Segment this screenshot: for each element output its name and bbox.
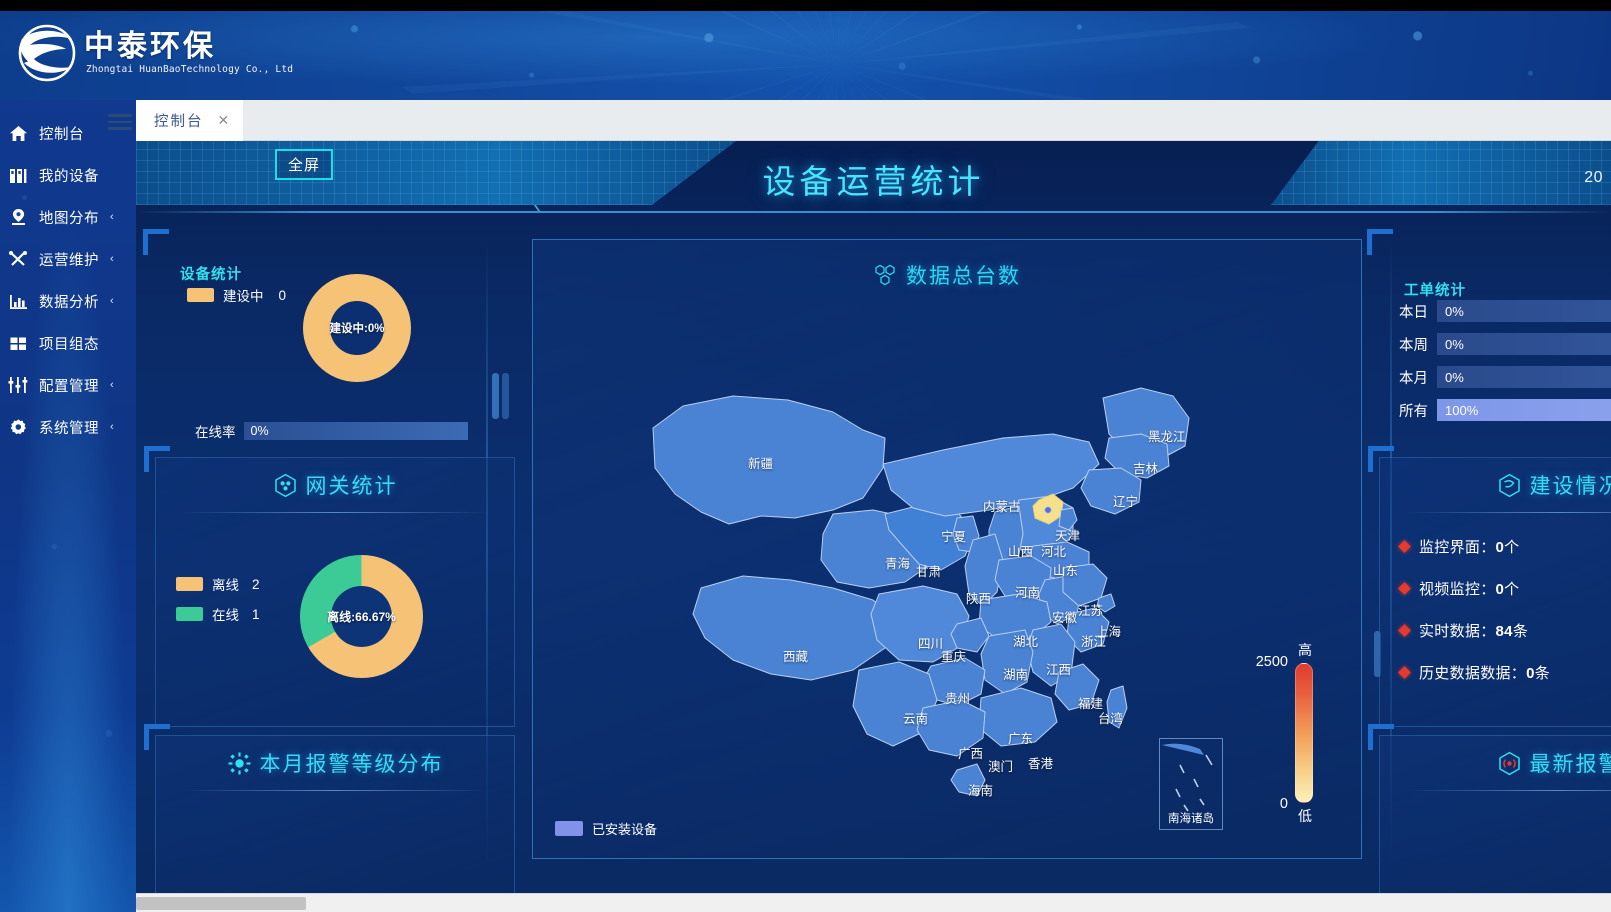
item-text: 监控界面：0个 (1419, 536, 1519, 557)
legend-label: 建设中 (223, 285, 264, 305)
build-info-header: 建设情况 (1380, 458, 1611, 512)
panel-corner (1367, 229, 1393, 255)
row-bar: 0% (1437, 300, 1611, 322)
province-label: 澳门 (988, 756, 1013, 775)
map-panel-title: 数据总台数 (906, 260, 1021, 290)
province-label: 湖南 (1003, 664, 1028, 683)
header-divider (136, 211, 1611, 213)
province-label: 贵州 (945, 688, 970, 707)
nanhai-inset: 南海诸岛 (1159, 738, 1223, 830)
sidebar-item-map-distribution[interactable]: 地图分布 ‹ (0, 196, 136, 238)
hexagon-chart-icon (1497, 473, 1522, 498)
alarm-level-header: 本月报警等级分布 (156, 736, 514, 790)
province-label: 陕西 (966, 588, 991, 607)
province-label: 浙江 (1081, 631, 1106, 650)
row-label: 本月 (1399, 367, 1428, 388)
province-label: 山西 (1008, 541, 1033, 560)
province-label: 重庆 (941, 646, 966, 665)
item-label: 历史数据数据： (1419, 665, 1526, 682)
online-rate-row: 在线率 0% (195, 421, 468, 441)
sidebar-item-label: 地图分布 (39, 207, 99, 228)
gateway-panel-header: 网关统计 (156, 458, 514, 512)
brand-text: 中泰环保 Zhongtai HuanBaoTechnology Co., Ltd (84, 31, 293, 76)
alarm-signal-icon (1497, 751, 1522, 776)
legend-label: 离线 (212, 574, 239, 594)
tab-label: 控制台 (154, 110, 204, 131)
build-info-list: 监控界面：0个 视频监控：0个 实时数据：84条 历史数据数据：0条 (1400, 536, 1550, 704)
sidebar-item-label: 项目组态 (39, 333, 99, 354)
province-label: 宁夏 (941, 526, 966, 545)
build-info-item: 视频监控：0个 (1400, 578, 1550, 599)
gateway-statistics-panel: 网关统计 离线 2 在线 1 离线:66.67% (155, 457, 515, 727)
chart-icon (6, 290, 30, 312)
grid-icon (6, 332, 30, 354)
item-text: 视频监控：0个 (1419, 578, 1519, 599)
row-label: 所有 (1399, 400, 1428, 421)
province-label: 山东 (1053, 560, 1078, 579)
work-order-title: 工单统计 (1404, 279, 1466, 300)
chevron-left-icon[interactable]: ‹ (110, 421, 114, 433)
sidebar-item-system-management[interactable]: 系统管理 ‹ (0, 406, 136, 448)
map-panel-header: 数据总台数 (533, 260, 1361, 290)
gateway-legend: 离线 2 在线 1 (176, 574, 260, 634)
scale-min-value: 0 (1280, 796, 1288, 812)
tools-icon (6, 248, 30, 270)
hamburger-icon[interactable] (108, 110, 132, 132)
china-map-svg[interactable] (533, 288, 1363, 860)
sidebar-item-label: 数据分析 (39, 291, 99, 312)
gateway-panel-title: 网关统计 (306, 470, 398, 500)
panel-corner (143, 229, 169, 255)
gateway-donut-chart: 离线:66.67% (300, 555, 423, 678)
scrollbar-thumb[interactable] (136, 897, 306, 910)
legend-value: 2 (252, 577, 260, 592)
latest-alarm-title: 最新报警 (1530, 748, 1611, 778)
sidebar-item-operations-maintenance[interactable]: 运营维护 ‹ (0, 238, 136, 280)
work-order-row-all: 所有 100% (1399, 399, 1611, 421)
item-value: 0 (1496, 539, 1505, 556)
row-label: 本日 (1399, 301, 1428, 322)
item-label: 视频监控： (1419, 581, 1496, 598)
map-value-scale: 高 低 2500 0 (1295, 663, 1313, 803)
work-order-row-week: 本周 0% (1399, 333, 1611, 355)
build-info-item: 监控界面：0个 (1400, 536, 1550, 557)
item-unit: 条 (1535, 665, 1550, 682)
online-rate-bar: 0% (244, 422, 468, 440)
row-value: 100% (1445, 403, 1478, 418)
item-label: 实时数据： (1419, 623, 1496, 640)
legend-label: 在线 (212, 604, 239, 624)
dashboard-page: 中泰环保 Zhongtai HuanBaoTechnology Co., Ltd… (0, 0, 1611, 912)
province-label: 辽宁 (1113, 491, 1138, 510)
tab-bar: 控制台 ✕ (136, 100, 1611, 141)
panel-divider (1405, 790, 1611, 791)
alarm-level-panel: 本月报警等级分布 (155, 735, 515, 893)
province-label: 青海 (885, 553, 910, 572)
province-label: 湖北 (1013, 631, 1038, 650)
home-icon (6, 122, 30, 144)
province-label: 安徽 (1052, 607, 1077, 626)
province-label: 广西 (958, 743, 983, 762)
dashboard-header: 设备运营统计 20 (136, 141, 1611, 213)
sidebar-item-configuration-management[interactable]: 配置管理 ‹ (0, 364, 136, 406)
item-unit: 个 (1504, 539, 1519, 556)
row-value: 0% (1445, 370, 1464, 385)
sidebar-item-my-devices[interactable]: 我的设备 (0, 154, 136, 196)
panel-divider (1405, 512, 1611, 513)
row-bar: 100% (1437, 399, 1611, 421)
sidebar-item-label: 控制台 (39, 123, 84, 144)
province-label: 香港 (1028, 753, 1053, 772)
work-order-row-month: 本月 0% (1399, 366, 1611, 388)
alarm-level-title: 本月报警等级分布 (260, 748, 444, 778)
item-text: 历史数据数据：0条 (1419, 662, 1550, 683)
legend-row-online: 在线 1 (176, 604, 260, 624)
sidebar-menu: 控制台 我的设备 (0, 100, 136, 448)
sidebar-item-data-analysis[interactable]: 数据分析 ‹ (0, 280, 136, 322)
hexagon-nodes-icon (273, 473, 298, 498)
online-rate-label: 在线率 (195, 421, 236, 441)
province-label: 河北 (1041, 541, 1066, 560)
build-info-title: 建设情况 (1530, 470, 1611, 500)
item-value: 84 (1496, 623, 1513, 640)
chevron-left-icon[interactable]: ‹ (110, 211, 114, 223)
device-icon (6, 164, 30, 186)
diamond-bullet-icon (1398, 540, 1411, 553)
item-unit: 个 (1504, 581, 1519, 598)
scale-low-label: 低 (1292, 806, 1318, 826)
legend-value: 0 (279, 288, 287, 303)
diamond-bullet-icon (1398, 582, 1411, 595)
chevron-left-icon[interactable]: ‹ (110, 295, 114, 307)
province-label: 吉林 (1133, 458, 1158, 477)
latest-alarm-panel: 最新报警 (1379, 735, 1611, 893)
legend-value: 1 (252, 607, 260, 622)
donut-center-label: 离线:66.67% (327, 608, 396, 625)
build-info-panel: 建设情况 监控界面：0个 视频监控：0个 实时数据：84条 历史 (1379, 457, 1611, 727)
diamond-bullet-icon (1398, 666, 1411, 679)
legend-swatch-online (176, 607, 203, 621)
province-label: 江西 (1046, 659, 1071, 678)
china-map[interactable]: 新疆黑龙江吉林辽宁内蒙古天津宁夏山西河北山东青海甘肃河南陕西安徽江苏上海浙江四川… (533, 288, 1363, 860)
dashboard-canvas: 设备运营统计 20 全屏 设备统计 建设中 0 建设中:0% 在线 (136, 141, 1611, 893)
fullscreen-button[interactable]: 全屏 (275, 149, 333, 180)
panel-divider (181, 512, 489, 513)
province-label: 西藏 (783, 646, 808, 665)
legend-row-offline: 离线 2 (176, 574, 260, 594)
province-label: 河南 (1015, 582, 1040, 601)
close-icon[interactable]: ✕ (218, 112, 230, 129)
device-donut-chart: 建设中:0% (303, 274, 411, 382)
sliders-icon (6, 374, 30, 396)
legend-swatch-offline (176, 577, 203, 591)
province-label: 海南 (968, 780, 993, 799)
province-label: 台湾 (1098, 708, 1123, 727)
build-info-item: 历史数据数据：0条 (1400, 662, 1550, 683)
donut-center: 建设中:0% (330, 301, 384, 355)
chevron-left-icon[interactable]: ‹ (110, 253, 114, 265)
scale-max-value: 2500 (1256, 654, 1288, 670)
panel-divider (181, 790, 489, 791)
online-rate-value: 0% (251, 424, 269, 438)
map-panel: 数据总台数 (532, 239, 1362, 859)
brand-name-cn: 中泰环保 (84, 31, 293, 63)
sidebar-item-label: 系统管理 (39, 417, 99, 438)
map-legend: 已安装设备 (555, 819, 657, 838)
brand-logo: 中泰环保 Zhongtai HuanBaoTechnology Co., Ltd (14, 23, 293, 83)
row-bar: 0% (1437, 333, 1611, 355)
sidebar: 控制台 我的设备 (0, 100, 136, 912)
device-statistics-title: 设备统计 (180, 263, 242, 284)
item-value: 0 (1526, 665, 1535, 682)
row-label: 本周 (1399, 334, 1428, 355)
sidebar-item-label: 我的设备 (39, 165, 99, 186)
wave-leaf-logo-icon (14, 23, 80, 83)
province-label: 甘肃 (916, 561, 941, 580)
alarm-burst-icon (227, 751, 252, 776)
sidebar-item-project-configuration[interactable]: 项目组态 (0, 322, 136, 364)
scale-high-label: 高 (1292, 640, 1318, 660)
row-value: 0% (1445, 304, 1464, 319)
brand-name-en: Zhongtai HuanBaoTechnology Co., Ltd (86, 64, 293, 75)
chevron-left-icon[interactable]: ‹ (110, 379, 114, 391)
gear-icon (6, 416, 30, 438)
province-label: 新疆 (748, 453, 773, 472)
window-black-bar (0, 0, 1611, 11)
row-value: 0% (1445, 337, 1464, 352)
map-pin-icon (6, 206, 30, 228)
work-order-row-today: 本日 0% (1399, 300, 1611, 322)
horizontal-scrollbar[interactable] (136, 893, 1611, 912)
legend-swatch-building (187, 288, 214, 302)
province-label: 内蒙古 (983, 496, 1021, 515)
row-bar: 0% (1437, 366, 1611, 388)
province-label: 江苏 (1078, 600, 1103, 619)
sidebar-item-label: 运营维护 (39, 249, 99, 270)
donut-center: 离线:66.67% (331, 586, 392, 647)
current-date: 20 (1584, 169, 1603, 187)
province-label: 黑龙江 (1148, 426, 1186, 445)
site-banner: 中泰环保 Zhongtai HuanBaoTechnology Co., Ltd (0, 11, 1611, 100)
device-statistics-panel: 设备统计 建设中 0 建设中:0% 在线率 0% (155, 241, 515, 449)
nanhai-label: 南海诸岛 (1160, 810, 1222, 826)
sidebar-item-label: 配置管理 (39, 375, 99, 396)
device-statistics-legend: 建设中 0 (187, 285, 286, 305)
item-unit: 条 (1513, 623, 1528, 640)
work-order-statistics-panel: 工单统计 本日 0% 本周 0% 本月 0% 所有 (1379, 241, 1611, 449)
legend-swatch-installed (555, 821, 583, 836)
nodes-icon (873, 263, 897, 287)
item-value: 0 (1496, 581, 1505, 598)
latest-alarm-header: 最新报警 (1380, 736, 1611, 790)
item-text: 实时数据：84条 (1419, 620, 1528, 641)
province-label: 四川 (918, 633, 943, 652)
item-label: 监控界面： (1419, 539, 1496, 556)
donut-center-label: 建设中:0% (330, 320, 385, 336)
build-info-item: 实时数据：84条 (1400, 620, 1550, 641)
legend-label-installed: 已安装设备 (592, 819, 657, 838)
tab-console[interactable]: 控制台 ✕ (136, 100, 243, 141)
page-title: 设备运营统计 (136, 155, 1611, 203)
province-label: 广东 (1008, 728, 1033, 747)
province-label: 云南 (903, 708, 928, 727)
diamond-bullet-icon (1398, 624, 1411, 637)
